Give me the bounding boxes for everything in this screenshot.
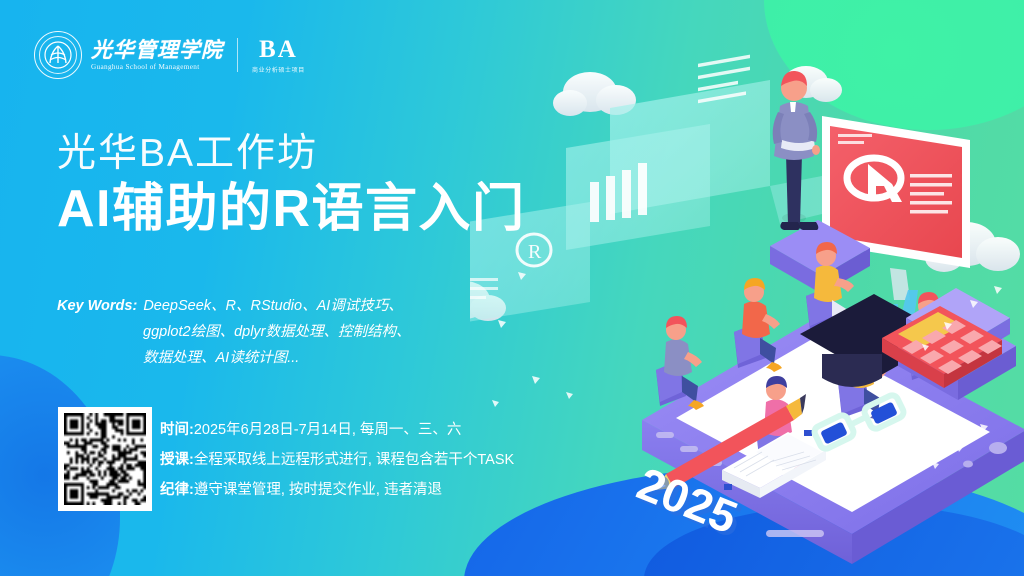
info-row-teaching: 授课:全程采取线上远程形式进行, 课程包含若干个TASK [160, 445, 514, 475]
info-value: 2025年6月28日-7月14日, 每周一、三、六 [194, 422, 462, 438]
isometric-illustration: R [470, 0, 1024, 576]
qr-code-image [64, 413, 146, 505]
logo-english-name: Guanghua School of Management [91, 63, 223, 71]
page-title: AI辅助的R语言入门 [57, 180, 526, 240]
info-block: 时间:2025年6月28日-7月14日, 每周一、三、六 授课:全程采取线上远程… [160, 415, 514, 505]
logo-chinese-name: 光华管理学院 [91, 39, 223, 61]
keywords-value: 数据处理、AI读统计图... [143, 345, 299, 371]
keywords-line: ggplot2绘图、dplyr数据处理、控制结构、 [57, 319, 487, 345]
info-row-discipline: 纪律:遵守课堂管理, 按时提交作业, 违者清退 [160, 475, 514, 505]
qr-code[interactable] [58, 407, 152, 511]
workshop-subtitle: 光华BA工作坊 [57, 132, 526, 176]
info-value: 全程采取线上远程形式进行, 课程包含若干个TASK [194, 452, 514, 468]
title-block: 光华BA工作坊 AI辅助的R语言入门 [57, 132, 526, 239]
logo-divider [237, 38, 238, 72]
info-label: 纪律: [160, 482, 194, 498]
info-value: 遵守课堂管理, 按时提交作业, 违者清退 [194, 482, 442, 498]
keywords-label: Key Words: [57, 293, 137, 319]
svg-text:R: R [528, 241, 542, 263]
poster-canvas: R [0, 0, 1024, 576]
info-label: 时间: [160, 422, 194, 438]
brand-logo-bar: 光华管理学院 Guanghua School of Management BA … [34, 30, 305, 80]
keywords-line: Key Words: DeepSeek、R、RStudio、AI调试技巧、 [57, 293, 487, 319]
pku-seal-icon [34, 31, 82, 79]
info-row-time: 时间:2025年6月28日-7月14日, 每周一、三、六 [160, 415, 514, 445]
keywords-line: 数据处理、AI读统计图... [57, 345, 487, 371]
info-label: 授课: [160, 452, 194, 468]
ba-program-subtitle: 商业分析硕士项目 [252, 65, 305, 74]
keywords-block: Key Words: DeepSeek、R、RStudio、AI调试技巧、 gg… [57, 293, 487, 371]
ba-program-title: BA [259, 37, 298, 62]
keywords-value: DeepSeek、R、RStudio、AI调试技巧、 [143, 293, 402, 319]
keywords-value: ggplot2绘图、dplyr数据处理、控制结构、 [143, 319, 411, 345]
